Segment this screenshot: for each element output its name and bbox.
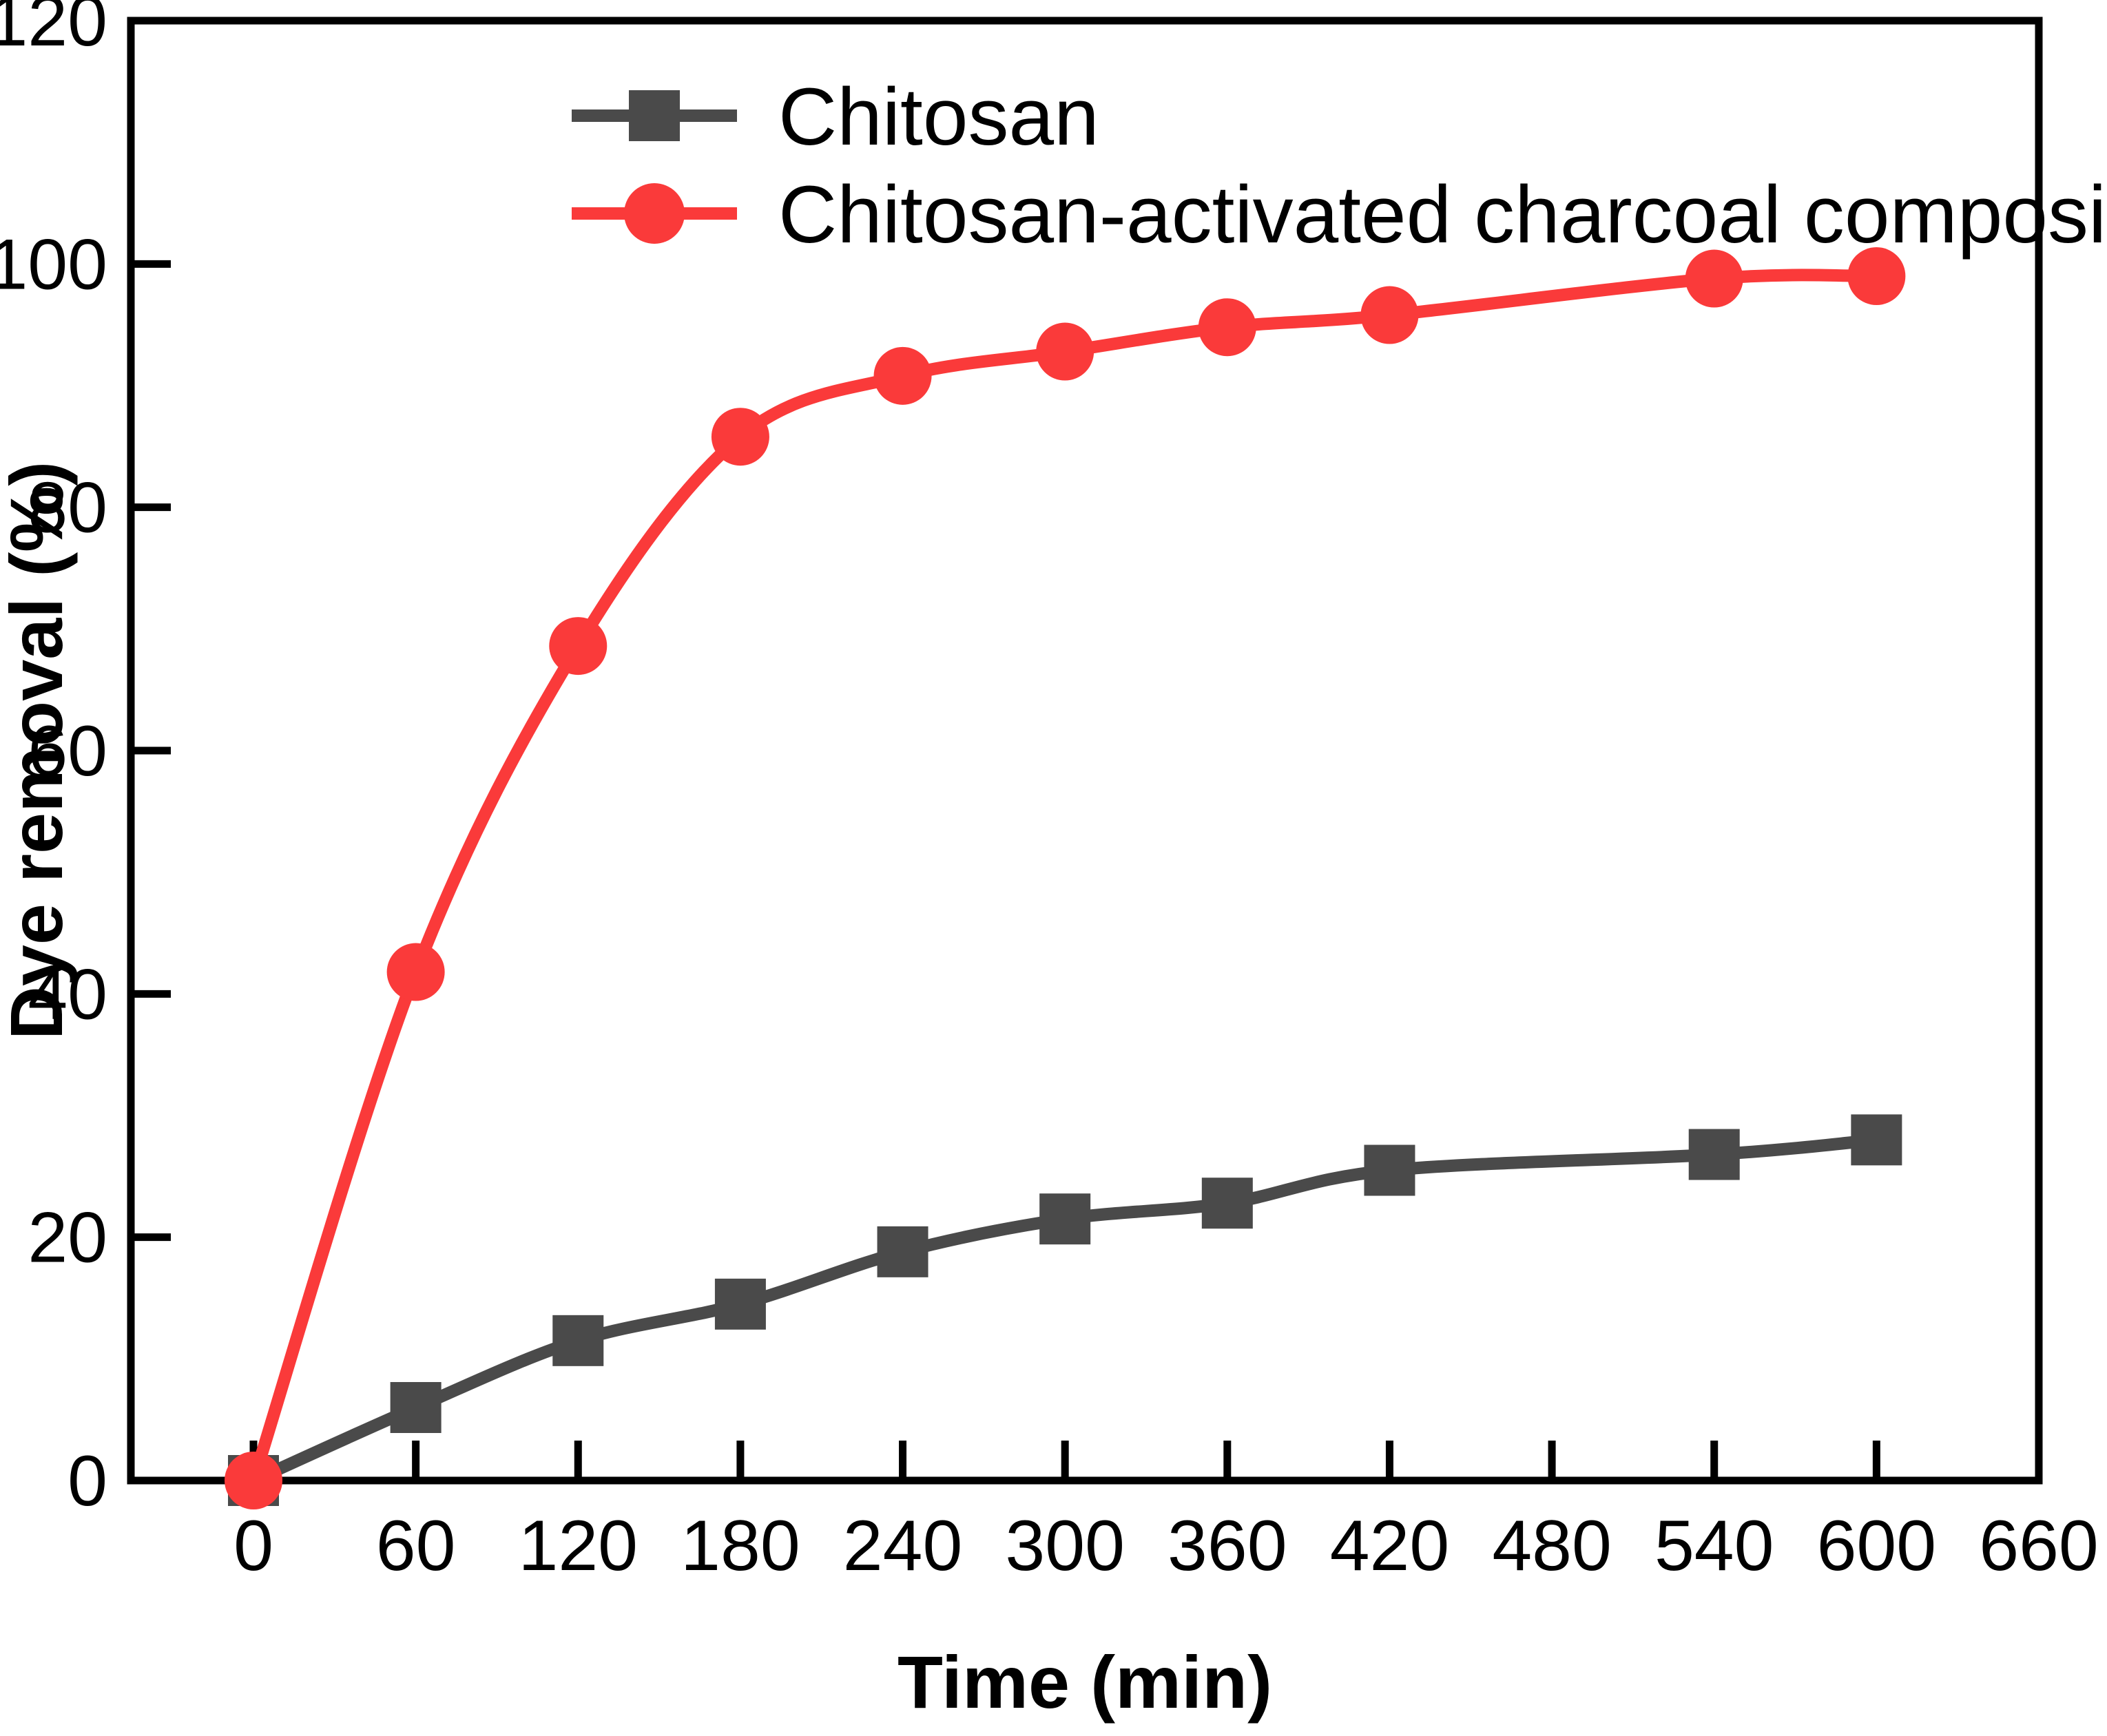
data-point-marker-square	[1364, 1145, 1415, 1196]
x-tick-label: 480	[1492, 1506, 1612, 1586]
y-axis-title: Dye removal (%)	[0, 461, 78, 1040]
legend-item-2[interactable]: Chitosan-activated charcoal composite	[572, 169, 2107, 260]
x-tick-label: 420	[1330, 1506, 1450, 1586]
x-tick-label: 0	[233, 1506, 273, 1586]
legend-label: Chitosan	[778, 72, 1099, 163]
y-tick-label: 0	[68, 1441, 107, 1521]
data-point-marker-circle	[712, 408, 769, 466]
data-point-marker-circle	[387, 943, 445, 1001]
y-tick-label: 100	[0, 224, 107, 304]
x-tick-label: 60	[376, 1506, 456, 1586]
chart-background	[0, 0, 2107, 1736]
data-point-marker-circle	[225, 1452, 282, 1509]
y-tick-label: 120	[0, 0, 107, 61]
data-point-marker-square	[878, 1226, 928, 1277]
x-tick-label: 120	[519, 1506, 639, 1586]
dye-removal-line-chart: 020406080100120 060120180240300360420480…	[0, 0, 2107, 1736]
x-tick-label: 540	[1654, 1506, 1774, 1586]
x-tick-label: 660	[1979, 1506, 2099, 1586]
chart-figure: 020406080100120 060120180240300360420480…	[0, 0, 2107, 1736]
data-point-marker-square	[1851, 1114, 1902, 1165]
data-point-marker-circle	[874, 347, 932, 405]
x-tick-label: 360	[1167, 1506, 1287, 1586]
x-tick-label: 300	[1005, 1506, 1125, 1586]
x-tick-label: 180	[681, 1506, 800, 1586]
data-point-marker-circle	[1360, 286, 1418, 344]
data-point-marker-square	[391, 1382, 442, 1433]
data-point-marker-circle	[1036, 323, 1094, 381]
data-point-marker-square	[715, 1279, 766, 1330]
legend-label: Chitosan-activated charcoal composite	[778, 169, 2107, 260]
legend-marker-square	[629, 90, 680, 141]
data-point-marker-circle	[549, 617, 607, 675]
legend-marker-circle	[624, 183, 685, 244]
data-point-marker-square	[1202, 1178, 1253, 1228]
data-point-marker-square	[1689, 1129, 1740, 1180]
data-point-marker-square	[1039, 1193, 1090, 1244]
y-tick-label: 20	[28, 1198, 107, 1278]
x-axis-title: Time (min)	[897, 1640, 1272, 1724]
x-tick-label: 240	[843, 1506, 963, 1586]
x-tick-label: 600	[1817, 1506, 1937, 1586]
data-point-marker-circle	[1198, 298, 1256, 356]
data-point-marker-square	[552, 1315, 603, 1366]
